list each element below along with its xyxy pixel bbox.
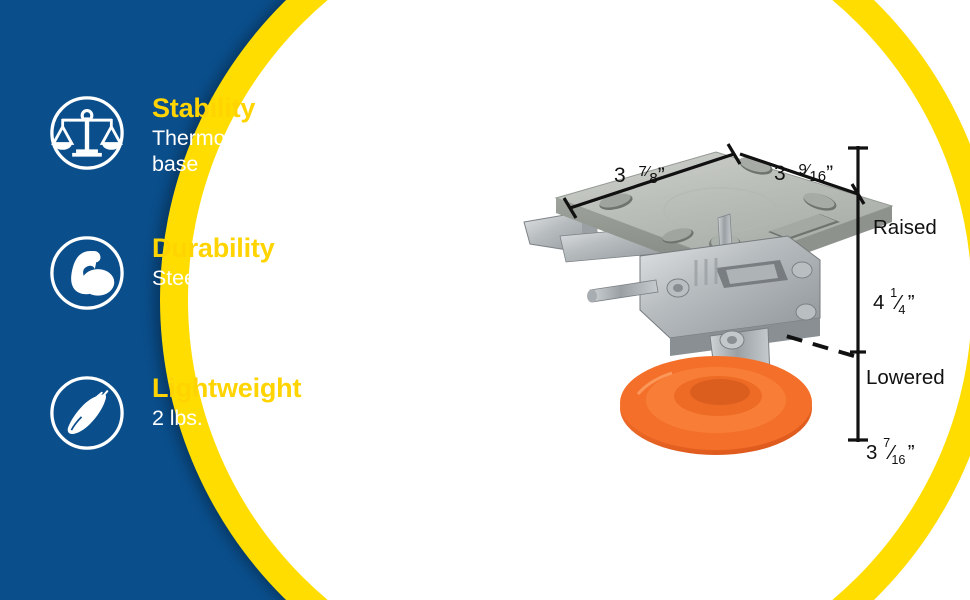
balance-scale-icon: [48, 94, 126, 172]
feature-subtext: Thermoplastic polyurethane base: [152, 125, 518, 177]
raised-value: 4 1⁄4”: [873, 265, 937, 317]
feature-text-lightweight: Lightweight 2 lbs.: [152, 372, 518, 431]
feature-list: Stability Thermoplastic polyurethane bas…: [48, 92, 518, 490]
feature-text-stability: Stability Thermoplastic polyurethane bas…: [152, 92, 518, 178]
feature-heading: Stability: [152, 94, 518, 123]
lowered-value: 3 7⁄16”: [866, 415, 945, 467]
feather-icon: [48, 374, 126, 452]
feature-text-durability: Durability Steel construction: [152, 232, 518, 291]
feature-subtext: Steel construction: [152, 265, 518, 291]
lowered-caption: Lowered: [866, 366, 945, 390]
flexed-bicep-icon: [48, 234, 126, 312]
feature-heading: Durability: [152, 234, 518, 263]
feature-item-durability: Durability Steel construction: [48, 232, 518, 350]
feature-subtext: 2 lbs.: [152, 405, 518, 431]
dimension-raised-label: Raised 4 1⁄4”: [873, 192, 937, 341]
dimension-lowered-label: Lowered 3 7⁄16”: [866, 342, 945, 491]
raised-caption: Raised: [873, 216, 937, 240]
dimension-depth-label: 3 9⁄16”: [774, 161, 833, 185]
feature-heading: Lightweight: [152, 374, 518, 403]
product-feature-banner: Stability Thermoplastic polyurethane bas…: [0, 0, 970, 600]
feature-item-stability: Stability Thermoplastic polyurethane bas…: [48, 92, 518, 210]
dimension-width-label: 3 7⁄8”: [614, 163, 665, 187]
feature-item-lightweight: Lightweight 2 lbs.: [48, 372, 518, 490]
